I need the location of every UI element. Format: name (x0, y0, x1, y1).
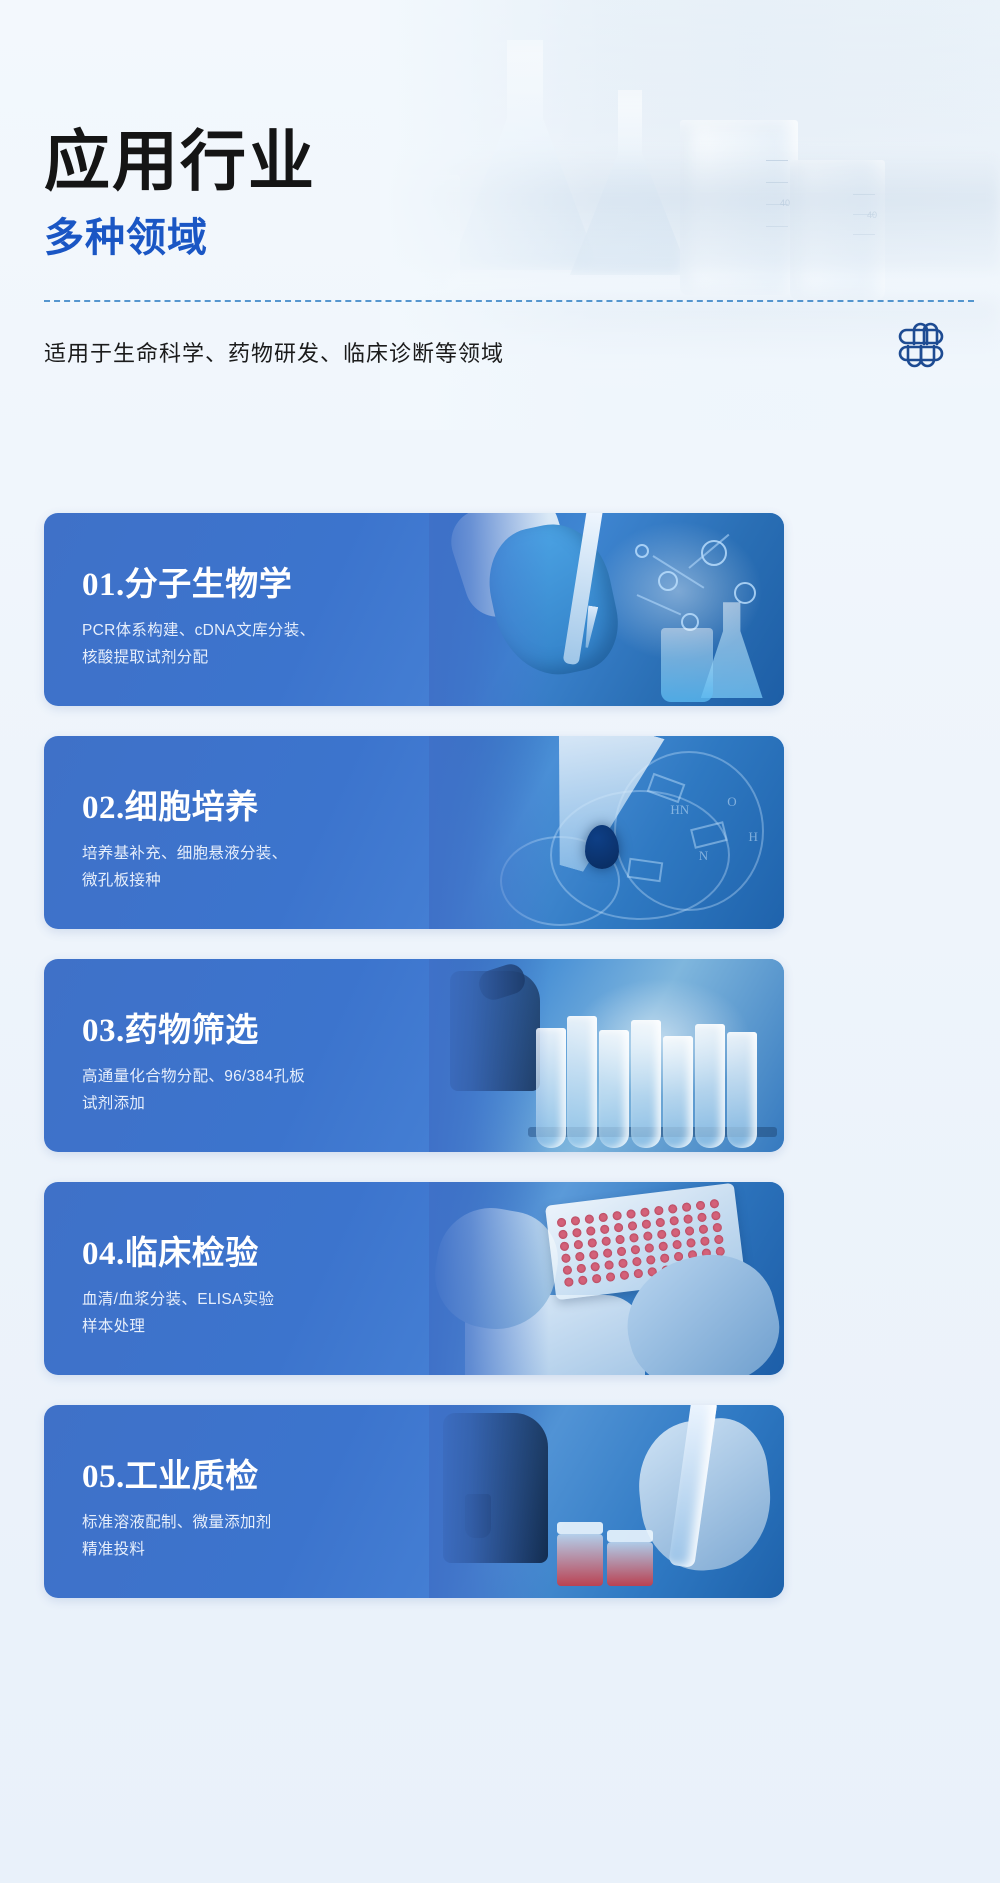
microplate-well (655, 1217, 665, 1227)
microplate-well (573, 1239, 583, 1249)
microplate-well (683, 1214, 693, 1224)
microplate-well (616, 1246, 626, 1256)
microplate-well (564, 1277, 574, 1287)
microplate-well (659, 1253, 669, 1263)
microplate-well (711, 1210, 721, 1220)
microplate-well (591, 1273, 601, 1283)
microplate-well (556, 1217, 566, 1227)
microplate-well (619, 1270, 629, 1280)
microplate-well (640, 1207, 650, 1217)
card-photo (429, 1182, 784, 1375)
microplate-well (627, 1220, 637, 1230)
microplate-well (697, 1212, 707, 1222)
microplate-well (644, 1243, 654, 1253)
microplate-well (709, 1198, 719, 1208)
microplate-well (570, 1215, 580, 1225)
card-photo (429, 959, 784, 1152)
card-description-line: 高通量化合物分配、96/384孔板 (82, 1063, 372, 1090)
microplate-well (598, 1212, 608, 1222)
microplate-well (712, 1222, 722, 1232)
microplate-well (643, 1231, 653, 1241)
card-description: PCR体系构建、cDNA文库分装、 核酸提取试剂分配 (82, 617, 372, 671)
page-root: 40 40 应用行业 多种领域 适用于生命科学、药物研发、临床诊断等领域 (0, 0, 1000, 1883)
card-photo (429, 513, 784, 706)
microplate-well (584, 1214, 594, 1224)
microplate-well (612, 1210, 622, 1220)
page-header: 应用行业 多种领域 适用于生命科学、药物研发、临床诊断等领域 (0, 0, 1000, 430)
microplate-well (604, 1260, 614, 1270)
microplate-well (658, 1241, 668, 1251)
microplate-well (630, 1244, 640, 1254)
microplate-well (654, 1205, 664, 1215)
microplate-well (695, 1200, 705, 1210)
card-description: 培养基补充、细胞悬液分装、 微孔板接种 (82, 840, 372, 894)
microplate-well (576, 1263, 586, 1273)
industry-card-05[interactable]: 05.工业质检 标准溶液配制、微量添加剂 精准投料 (44, 1405, 784, 1598)
microplate-well (641, 1219, 651, 1229)
microplate-well (605, 1272, 615, 1282)
card-description-line: 培养基补充、细胞悬液分装、 (82, 840, 372, 867)
microplate-well (700, 1236, 710, 1246)
header-lead-text: 适用于生命科学、药物研发、临床诊断等领域 (44, 336, 504, 368)
microplate-well (698, 1224, 708, 1234)
card-description-line: 样本处理 (82, 1313, 372, 1340)
card-description: 标准溶液配制、微量添加剂 精准投料 (82, 1509, 372, 1563)
card-description-line: 试剂添加 (82, 1090, 372, 1117)
card-description: 高通量化合物分配、96/384孔板 试剂添加 (82, 1063, 372, 1117)
industry-card-01[interactable]: 01.分子生物学 PCR体系构建、cDNA文库分装、 核酸提取试剂分配 (44, 513, 784, 706)
microplate-well (615, 1234, 625, 1244)
card-description-line: PCR体系构建、cDNA文库分装、 (82, 617, 372, 644)
microplate-well (585, 1226, 595, 1236)
page-title: 应用行业 (44, 128, 316, 194)
microplate-well (633, 1268, 643, 1278)
card-description-line: 精准投料 (82, 1536, 372, 1563)
microplate-well (632, 1256, 642, 1266)
microplate-well (613, 1222, 623, 1232)
microplate-well (561, 1253, 571, 1263)
microplate-well (684, 1226, 694, 1236)
microplate-well (672, 1239, 682, 1249)
microplate-well (669, 1215, 679, 1225)
card-photo (429, 1405, 784, 1598)
microplate-well (587, 1237, 597, 1247)
card-description: 血清/血浆分装、ELISA实验 样本处理 (82, 1286, 372, 1340)
microplate-well (626, 1209, 636, 1219)
page-subtitle: 多种领域 (44, 218, 208, 258)
microplate-well (670, 1227, 680, 1237)
microplate-well (601, 1236, 611, 1246)
microplate-well (629, 1232, 639, 1242)
quatrefoil-logo-icon (898, 322, 944, 368)
industry-card-02[interactable]: 02.细胞培养 培养基补充、细胞悬液分装、 微孔板接种 HN O N (44, 736, 784, 929)
microplate-well (562, 1265, 572, 1275)
microplate-well (588, 1249, 598, 1259)
card-description-line: 微孔板接种 (82, 867, 372, 894)
microplate-well (572, 1227, 582, 1237)
microplate-well (590, 1261, 600, 1271)
card-photo: HN O N H (429, 736, 784, 929)
microplate-well (599, 1224, 609, 1234)
microplate-well (618, 1258, 628, 1268)
industry-card-04[interactable]: 04.临床检验 血清/血浆分装、ELISA实验 样本处理 (44, 1182, 784, 1375)
microplate-well (667, 1203, 677, 1213)
microplate-well (686, 1237, 696, 1247)
microplate-well (681, 1202, 691, 1212)
microplate-well (575, 1251, 585, 1261)
card-description-line: 核酸提取试剂分配 (82, 644, 372, 671)
microplate-well (558, 1229, 568, 1239)
header-dashed-divider (44, 300, 974, 302)
industry-card-03[interactable]: 03.药物筛选 高通量化合物分配、96/384孔板 试剂添加 (44, 959, 784, 1152)
card-description-line: 血清/血浆分装、ELISA实验 (82, 1286, 372, 1313)
microplate-well (602, 1248, 612, 1258)
microplate-well (656, 1229, 666, 1239)
card-description-line: 标准溶液配制、微量添加剂 (82, 1509, 372, 1536)
microplate-well (559, 1241, 569, 1251)
microplate-well (645, 1254, 655, 1264)
microplate-well (577, 1275, 587, 1285)
microplate-well (713, 1234, 723, 1244)
